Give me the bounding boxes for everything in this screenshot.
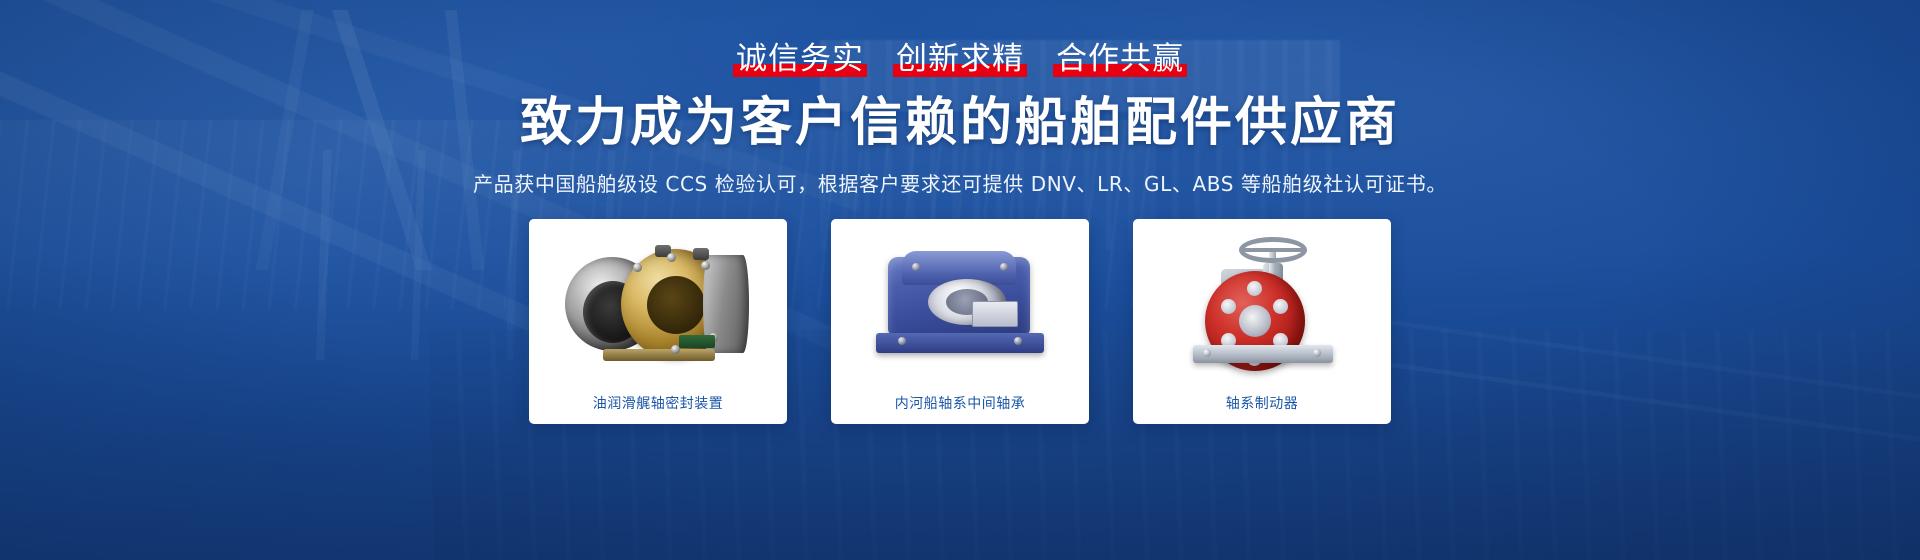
company-slogan: 诚信务实 创新求精 合作共赢 — [733, 44, 1187, 75]
oil-lubricated-stern-shaft-seal-image — [529, 219, 787, 382]
product-card[interactable]: 轴系制动器 — [1133, 219, 1391, 424]
slogan-part-3: 合作共赢 — [1053, 44, 1187, 75]
banner-subtitle: 产品获中国船舶级设 CCS 检验认可，根据客户要求还可提供 DNV、LR、GL、… — [473, 168, 1447, 197]
product-card-list: 油润滑艉轴密封装置 — [529, 219, 1391, 424]
banner-content: 诚信务实 创新求精 合作共赢 致力成为客户信赖的船舶配件供应商 产品获中国船舶级… — [0, 0, 1920, 560]
shaft-brake-image — [1133, 219, 1391, 382]
product-card-caption: 油润滑艉轴密封装置 — [593, 382, 724, 424]
banner-headline: 致力成为客户信赖的船舶配件供应商 — [520, 95, 1400, 152]
slogan-part-2: 创新求精 — [893, 44, 1027, 75]
inland-vessel-intermediate-shaft-bearing-image — [831, 219, 1089, 382]
product-card[interactable]: 油润滑艉轴密封装置 — [529, 219, 787, 424]
slogan-part-2-text: 创新求精 — [896, 41, 1024, 77]
product-card-caption: 内河船轴系中间轴承 — [895, 382, 1026, 424]
slogan-part-1: 诚信务实 — [733, 44, 867, 75]
hero-banner: 诚信务实 创新求精 合作共赢 致力成为客户信赖的船舶配件供应商 产品获中国船舶级… — [0, 0, 1920, 560]
slogan-part-3-text: 合作共赢 — [1056, 41, 1184, 77]
product-card-caption: 轴系制动器 — [1226, 382, 1299, 424]
product-card[interactable]: 内河船轴系中间轴承 — [831, 219, 1089, 424]
slogan-part-1-text: 诚信务实 — [736, 41, 864, 77]
